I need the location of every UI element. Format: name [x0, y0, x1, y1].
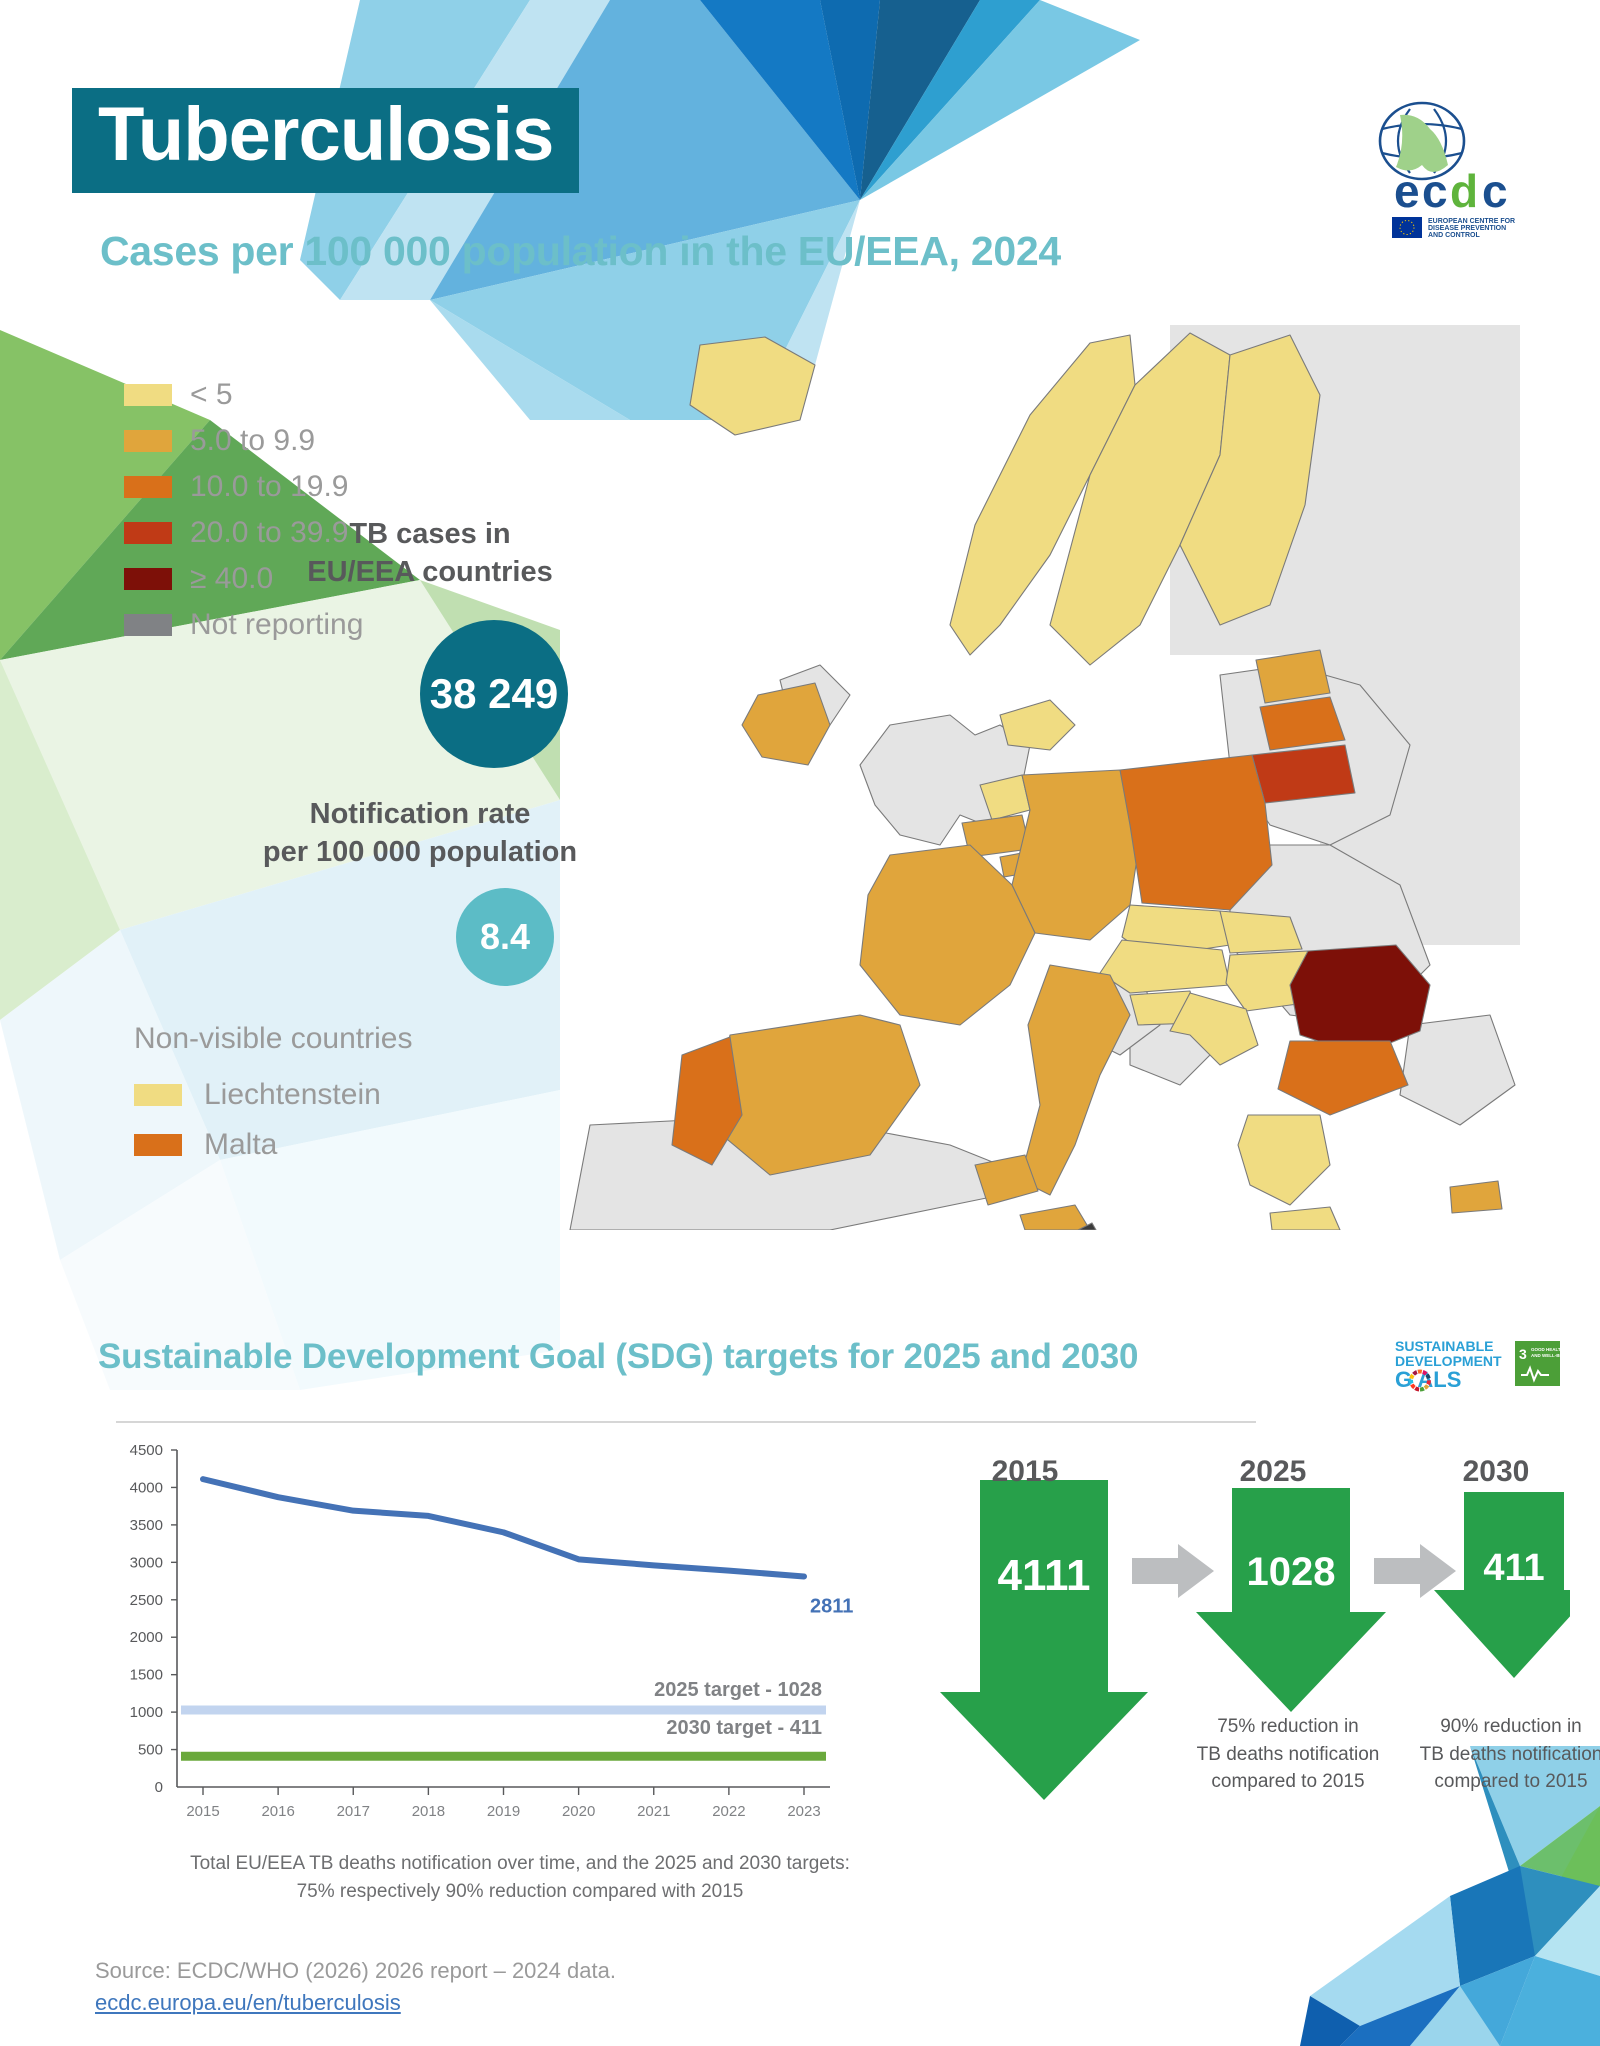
sdg-logo: SUSTAINABLE DEVELOPMENT G ALS 3 GOOD HEA… [1395, 1337, 1560, 1399]
arrow-2025 [1196, 1488, 1386, 1712]
country-latvia [1260, 697, 1345, 750]
y-tick-label: 4500 [130, 1442, 163, 1459]
legend-label: 10.0 to 19.9 [190, 470, 348, 504]
non-visible-swatch [134, 1134, 182, 1156]
y-tick-label: 3000 [130, 1554, 163, 1571]
y-tick-label: 1500 [130, 1667, 163, 1684]
source-text: Source: ECDC/WHO (2026) 2026 report – 20… [95, 1958, 616, 1984]
legend-label: 5.0 to 9.9 [190, 424, 315, 458]
arrow-year-2025: 2025 [1178, 1455, 1368, 1489]
x-tick-label: 2015 [186, 1803, 219, 1820]
section-divider [116, 1421, 1256, 1423]
y-tick-label: 4000 [130, 1479, 163, 1496]
y-axis: 050010001500200025003000350040004500 [130, 1442, 177, 1796]
country-poland [1120, 755, 1272, 910]
y-tick-label: 500 [138, 1742, 163, 1759]
sdg-target-arrows: 4111 1028 411 [930, 1440, 1570, 1860]
non-visible-countries-title: Non-visible countries [134, 1022, 412, 1056]
connector-arrow-1 [1132, 1544, 1214, 1598]
x-tick-label: 2022 [712, 1803, 745, 1820]
arrow-note-2030: 90% reduction inTB deaths notificationco… [1396, 1713, 1600, 1796]
non-visible-swatch [134, 1084, 182, 1106]
x-tick-label: 2023 [787, 1803, 820, 1820]
tb-deaths-line-chart: 050010001500200025003000350040004500 201… [95, 1432, 855, 1832]
svg-text:d: d [1450, 165, 1478, 217]
arrow-2015 [940, 1480, 1148, 1800]
country-lithuania [1252, 745, 1355, 803]
legend-swatch [124, 476, 172, 498]
arrow-note-2025: 75% reduction inTB deaths notificationco… [1173, 1713, 1403, 1796]
chart-caption-line2: 75% respectively 90% reduction compared … [150, 1878, 890, 1906]
legend-swatch [124, 568, 172, 590]
country-germany [1012, 770, 1142, 940]
x-tick-label: 2017 [337, 1803, 370, 1820]
arrow-2025-value: 1028 [1247, 1550, 1336, 1594]
chart-caption-line1: Total EU/EEA TB deaths notification over… [150, 1850, 890, 1878]
x-axis: 201520162017201820192020202120222023 [186, 1787, 820, 1820]
sdg-goal3-tile: 3 GOOD HEALTH AND WELL-BEING [1515, 1341, 1560, 1386]
page-subtitle: Cases per 100 000 population in the EU/E… [100, 228, 1061, 275]
country-bulgaria [1278, 1041, 1408, 1115]
chart-caption: Total EU/EEA TB deaths notification over… [150, 1850, 890, 1905]
x-tick-label: 2016 [261, 1803, 294, 1820]
ecdc-logo-line2: DISEASE PREVENTION [1428, 225, 1506, 232]
legend-swatch [124, 614, 172, 636]
connector-arrow-2 [1374, 1544, 1456, 1598]
y-tick-label: 0 [155, 1779, 163, 1796]
non-visible-item: Liechtenstein [134, 1070, 412, 1120]
legend-label: < 5 [190, 378, 233, 412]
x-tick-label: 2021 [637, 1803, 670, 1820]
legend-swatch [124, 384, 172, 406]
country-italy [1020, 965, 1130, 1195]
arrow-2030-value: 411 [1483, 1547, 1544, 1589]
ecdc-logo: e c d c EUROPEAN CENTRE FOR DISEASE PREV… [1350, 95, 1550, 245]
sdg-goal-label-line1: GOOD HEALTH [1531, 1347, 1560, 1352]
series-2025-target-label: 2025 target - 1028 [654, 1679, 822, 1701]
non-visible-label: Liechtenstein [204, 1078, 381, 1112]
country-greece [1238, 1115, 1330, 1205]
y-tick-label: 1000 [130, 1704, 163, 1721]
sdg-logo-line3: G ALS [1395, 1367, 1461, 1392]
non-visible-label: Malta [204, 1128, 277, 1162]
legend-swatch [124, 430, 172, 452]
sdg-logo-line1: SUSTAINABLE [1395, 1338, 1494, 1354]
source-link[interactable]: ecdc.europa.eu/en/tuberculosis [95, 1990, 401, 2016]
x-tick-label: 2019 [487, 1803, 520, 1820]
legend-item: 5.0 to 9.9 [124, 418, 363, 464]
country-cyprus [1450, 1181, 1502, 1213]
svg-text:c: c [1482, 165, 1508, 217]
country-slovakia [1220, 911, 1302, 953]
x-tick-label: 2020 [562, 1803, 595, 1820]
ecdc-logo-line1: EUROPEAN CENTRE FOR [1428, 218, 1515, 225]
arrow-year-2030: 2030 [1401, 1455, 1591, 1489]
country-denmark [1000, 700, 1075, 750]
y-tick-label: 2000 [130, 1629, 163, 1646]
legend-swatch [124, 522, 172, 544]
series-2030-target-label: 2030 target - 411 [666, 1717, 822, 1739]
ecdc-logo-line3: AND CONTROL [1428, 232, 1480, 239]
legend-label: Not reporting [190, 608, 363, 642]
country-ireland [742, 683, 830, 765]
x-tick-label: 2018 [412, 1803, 445, 1820]
country-crete [1270, 1207, 1340, 1230]
svg-text:c: c [1422, 165, 1448, 217]
europe-choropleth-map [530, 325, 1520, 1230]
page-title: Tuberculosis [72, 88, 579, 193]
arrow-2015-value: 4111 [997, 1551, 1090, 1600]
country-sicily [1020, 1205, 1090, 1230]
map-legend: < 5 5.0 to 9.9 10.0 to 19.9 20.0 to 39.9… [124, 372, 363, 648]
legend-item: 10.0 to 19.9 [124, 464, 363, 510]
sdg-section-title: Sustainable Development Goal (SDG) targe… [98, 1337, 1138, 1377]
arrow-year-2015: 2015 [930, 1455, 1120, 1489]
non-visible-countries: Non-visible countries Liechtenstein Malt… [134, 1022, 412, 1170]
svg-text:e: e [1394, 165, 1420, 217]
country-estonia [1256, 650, 1330, 703]
series-tb-deaths-line [203, 1479, 804, 1576]
series-end-value-label: 2811 [810, 1595, 853, 1617]
non-visible-item: Malta [134, 1120, 412, 1170]
legend-item: < 5 [124, 372, 363, 418]
y-tick-label: 2500 [130, 1592, 163, 1609]
infographic-canvas: Tuberculosis Cases per 100 000 populatio… [0, 0, 1600, 2046]
sdg-goal-number: 3 [1519, 1346, 1527, 1362]
y-tick-label: 3500 [130, 1517, 163, 1534]
sdg-goal-label-line2: AND WELL-BEING [1531, 1353, 1560, 1358]
country-iceland [690, 337, 815, 435]
legend-item: Not reporting [124, 602, 363, 648]
